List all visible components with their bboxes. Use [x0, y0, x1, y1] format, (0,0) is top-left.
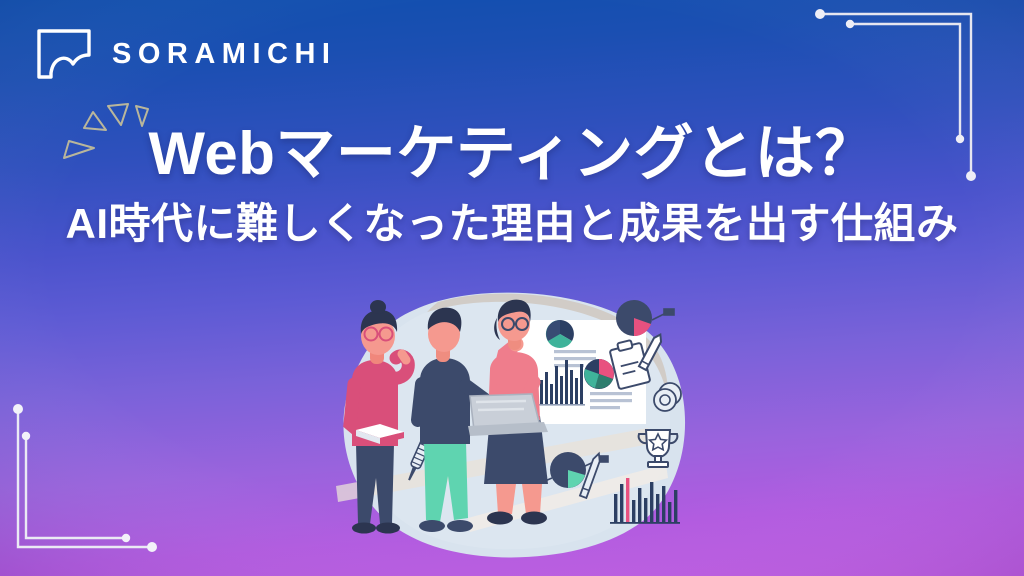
pie-chart-mid	[584, 359, 614, 389]
page-subtitle: AI時代に難しくなった理由と成果を出す仕組み	[0, 201, 1024, 247]
brand-logo[interactable]: SORAMICHI	[36, 28, 336, 80]
business-team-analytics-illustration	[318, 288, 710, 576]
headline-block: Webマーケティングとは？ AI時代に難しくなった理由と成果を出す仕組み	[0, 122, 1024, 247]
slide-canvas: SORAMICHI Webマーケティングとは？ AI時代に難しくなった理由と成果…	[0, 0, 1024, 576]
pie-chart-top	[546, 320, 574, 348]
speech-bubble-logo-icon	[36, 28, 92, 80]
pie-chart-floating	[616, 300, 674, 336]
corner-bracket-bottom-left	[0, 386, 230, 576]
page-title: Webマーケティングとは？	[0, 122, 1024, 187]
brand-name: SORAMICHI	[112, 40, 336, 69]
